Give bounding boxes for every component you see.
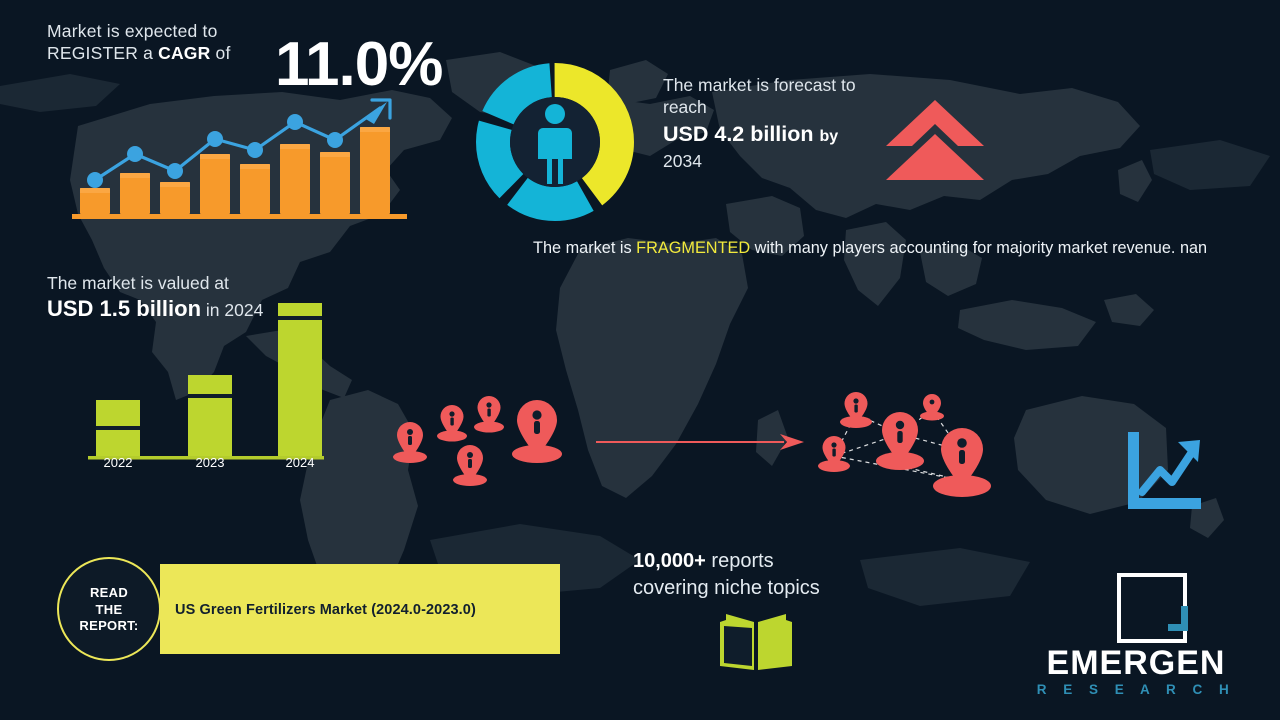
emergen-research-logo: EMERGEN R E S E A R C H: [1020, 572, 1252, 697]
market-share-donut: [465, 52, 645, 232]
forecast-lead-line2: reach: [663, 97, 707, 117]
forecast-block: The market is forecast to reach USD 4.2 …: [663, 74, 903, 172]
reports-line1-rest: reports: [706, 550, 774, 572]
cta-line2: THE: [96, 602, 123, 617]
cagr-caption: Market is expected to REGISTER a CAGR of: [47, 20, 277, 64]
forecast-by-word: by: [820, 128, 839, 145]
valuation-bar-chart: 2022 2023 2024: [78, 295, 328, 470]
bar-label-2024: 2024: [270, 455, 330, 470]
logo-subtitle: R E S E A R C H: [1020, 682, 1252, 697]
cagr-value: 11.0%: [275, 34, 442, 96]
forecast-value: USD 4.2 billion: [663, 122, 814, 146]
reports-statement: 10,000+ reports covering niche topics: [633, 548, 933, 602]
cagr-block: Market is expected to REGISTER a CAGR of…: [47, 20, 447, 64]
networked-location-pins: [812, 388, 1007, 500]
cta-circle[interactable]: READ THE REPORT:: [57, 557, 212, 661]
forecast-lead-line1: The market is forecast to: [663, 75, 856, 95]
growth-bar-chart: [72, 88, 407, 220]
cagr-line2-bold: CAGR: [158, 43, 210, 63]
report-title: US Green Fertilizers Market (2024.0-2023…: [175, 602, 555, 618]
cagr-line1: Market is expected to: [47, 21, 218, 41]
infographic-canvas: Market is expected to REGISTER a CAGR of…: [0, 0, 1280, 720]
valuation-caption: The market is valued at: [47, 272, 347, 294]
read-the-report-cta[interactable]: US Green Fertilizers Market (2024.0-2023…: [57, 557, 560, 661]
forecast-year: 2034: [663, 150, 903, 172]
fragmentation-statement: The market is FRAGMENTED with many playe…: [533, 236, 1213, 260]
reports-count: 10,000+: [633, 550, 706, 572]
cagr-line2-post: of: [210, 43, 230, 63]
square-chart-logo-icon: [1116, 572, 1188, 644]
fragmentation-post: with many players accounting for majorit…: [750, 239, 1207, 257]
fragmentation-highlight: FRAGMENTED: [636, 239, 750, 257]
forecast-value-row: USD 4.2 billion by: [663, 121, 903, 150]
forecast-caption: The market is forecast to reach: [663, 74, 903, 118]
cagr-line2-pre: REGISTER a: [47, 43, 158, 63]
cta-circle-label: READ THE REPORT:: [57, 585, 161, 635]
cta-line1: READ: [90, 585, 128, 600]
reports-line2: covering niche topics: [633, 577, 820, 599]
logo-wordmark: EMERGEN: [1020, 644, 1252, 682]
scattered-location-pins: [385, 388, 580, 493]
growth-chart-icon: [1120, 428, 1208, 516]
open-book-icon: [718, 608, 794, 670]
bar-label-2022: 2022: [88, 455, 148, 470]
right-arrow-icon: [594, 430, 806, 454]
cta-line3: REPORT:: [79, 618, 138, 633]
fragmentation-pre: The market is: [533, 239, 636, 257]
bar-label-2023: 2023: [180, 455, 240, 470]
double-up-chevron-icon: [884, 96, 986, 180]
